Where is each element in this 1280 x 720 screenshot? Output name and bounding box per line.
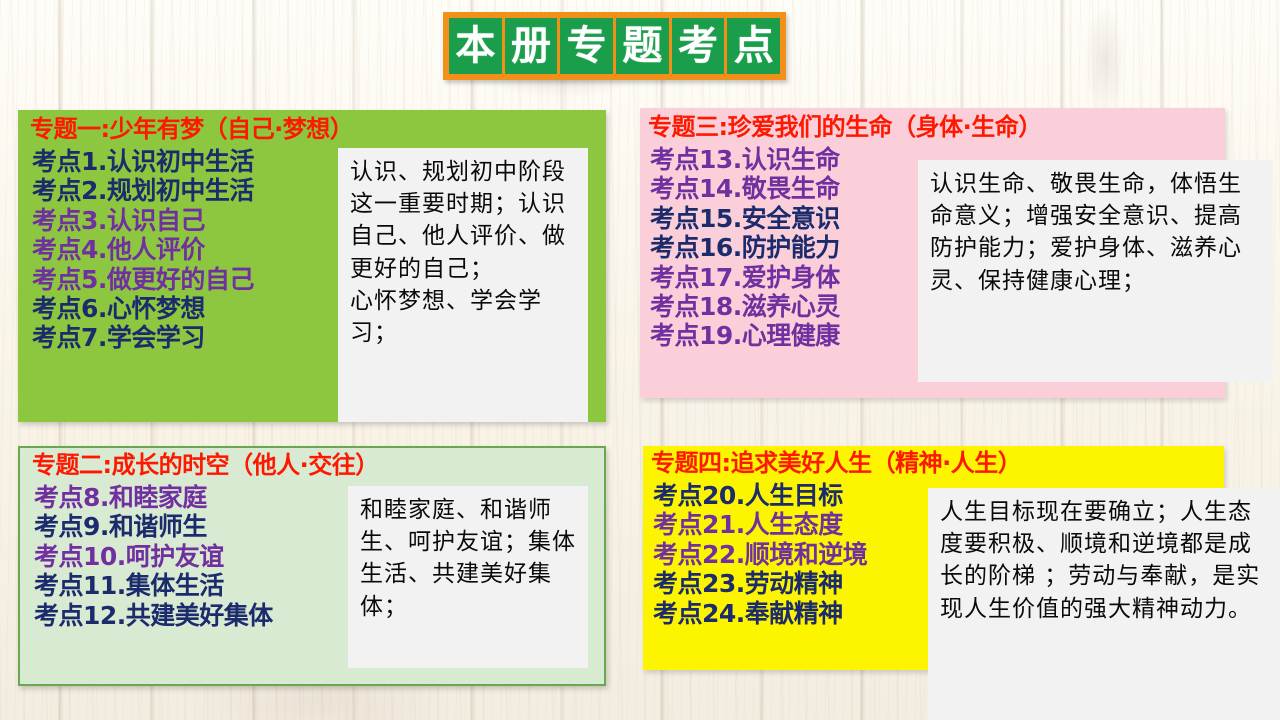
title-char-3: 专 <box>560 18 613 74</box>
list-item: 考点20.人生目标 <box>653 481 867 510</box>
list-item: 考点18.滋养心灵 <box>650 292 840 321</box>
list-item: 考点1.认识初中生活 <box>32 147 254 176</box>
list-item: 考点8.和睦家庭 <box>34 483 273 512</box>
list-item: 考点22.顺境和逆境 <box>653 540 867 569</box>
title-char-2: 册 <box>505 18 558 74</box>
title-char-5: 考 <box>672 18 725 74</box>
list-item: 考点4.他人评价 <box>32 235 254 264</box>
list-item: 考点24.奉献精神 <box>653 599 867 628</box>
topic-2-heading: 专题二:成长的时空（他人·交往） <box>32 452 379 479</box>
topic-2-item-list: 考点8.和睦家庭 考点9.和谐师生 考点10.呵护友谊 考点11.集体生活 考点… <box>34 483 273 630</box>
list-item: 考点16.防护能力 <box>650 233 840 262</box>
topic-3-summary: 认识生命、敬畏生命，体悟生命意义；增强安全意识、提高防护能力；爱护身体、滋养心灵… <box>918 160 1273 382</box>
title-char-4: 题 <box>616 18 669 74</box>
list-item: 考点23.劳动精神 <box>653 569 867 598</box>
list-item: 考点5.做更好的自己 <box>32 265 254 294</box>
topic-1-item-list: 考点1.认识初中生活 考点2.规划初中生活 考点3.认识自己 考点4.他人评价 … <box>32 147 254 353</box>
topic-1-heading: 专题一:少年有梦（自己·梦想） <box>30 116 353 143</box>
list-item: 考点21.人生态度 <box>653 510 867 539</box>
topic-4-item-list: 考点20.人生目标 考点21.人生态度 考点22.顺境和逆境 考点23.劳动精神… <box>653 481 867 628</box>
list-item: 考点9.和谐师生 <box>34 512 273 541</box>
title-char-6: 点 <box>727 18 780 74</box>
list-item: 考点13.认识生命 <box>650 145 840 174</box>
list-item: 考点17.爱护身体 <box>650 263 840 292</box>
page-title-banner: 本 册 专 题 考 点 <box>443 12 786 80</box>
topic-4-heading: 专题四:追求美好人生（精神·人生） <box>651 450 1021 477</box>
topic-4-summary: 人生目标现在要确立；人生态度要积极、顺境和逆境都是成长的阶梯 ；劳动与奉献，是实… <box>928 488 1280 720</box>
list-item: 考点2.规划初中生活 <box>32 176 254 205</box>
list-item: 考点6.心怀梦想 <box>32 294 254 323</box>
list-item: 考点14.敬畏生命 <box>650 174 840 203</box>
title-char-1: 本 <box>449 18 502 74</box>
topic-1-summary: 认识、规划初中阶段这一重要时期；认识自己、他人评价、做更好的自己； 心怀梦想、学… <box>338 148 588 422</box>
topic-3-heading: 专题三:珍爱我们的生命（身体·生命） <box>648 114 1042 141</box>
list-item: 考点15.安全意识 <box>650 204 840 233</box>
list-item: 考点3.认识自己 <box>32 206 254 235</box>
list-item: 考点12.共建美好集体 <box>34 601 273 630</box>
topic-3-item-list: 考点13.认识生命 考点14.敬畏生命 考点15.安全意识 考点16.防护能力 … <box>650 145 840 351</box>
topic-2-summary: 和睦家庭、和谐师生、呵护友谊；集体生活、共建美好集体； <box>348 486 588 668</box>
list-item: 考点19.心理健康 <box>650 321 840 350</box>
list-item: 考点10.呵护友谊 <box>34 542 273 571</box>
list-item: 考点11.集体生活 <box>34 571 273 600</box>
list-item: 考点7.学会学习 <box>32 323 254 352</box>
